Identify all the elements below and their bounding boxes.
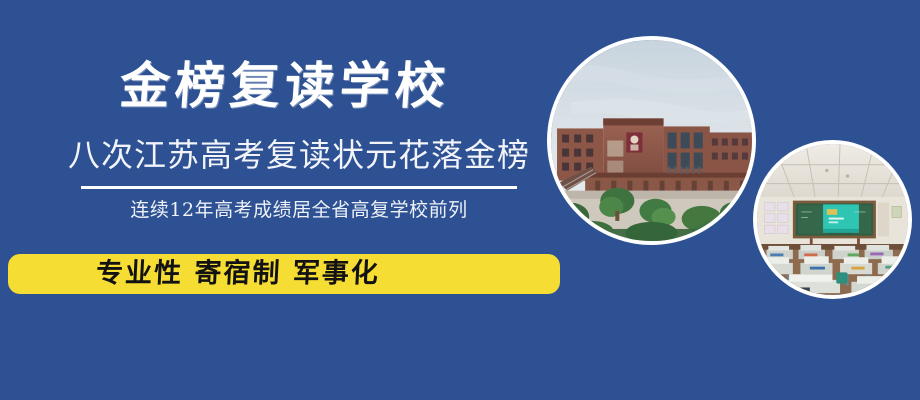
classroom-illustration [757,144,908,295]
page-title: 金榜复读学校 [0,58,572,114]
photo-school-campus-building [547,36,756,245]
title-divider [81,186,517,189]
features-pill-label: 专业性 寄宿制 军事化 [95,259,380,289]
school-campus-illustration [551,40,752,241]
features-pill: 专业性 寄宿制 军事化 [8,254,560,294]
banner-tagline: 连续12年高考成绩居全省高复学校前列 [0,196,598,224]
promo-banner: 金榜复读学校 八次江苏高考复读状元花落金榜 连续12年高考成绩居全省高复学校前列… [0,0,920,400]
photo-classroom-interior [753,140,912,299]
banner-subtitle: 八次江苏高考复读状元花落金榜 [0,135,598,175]
